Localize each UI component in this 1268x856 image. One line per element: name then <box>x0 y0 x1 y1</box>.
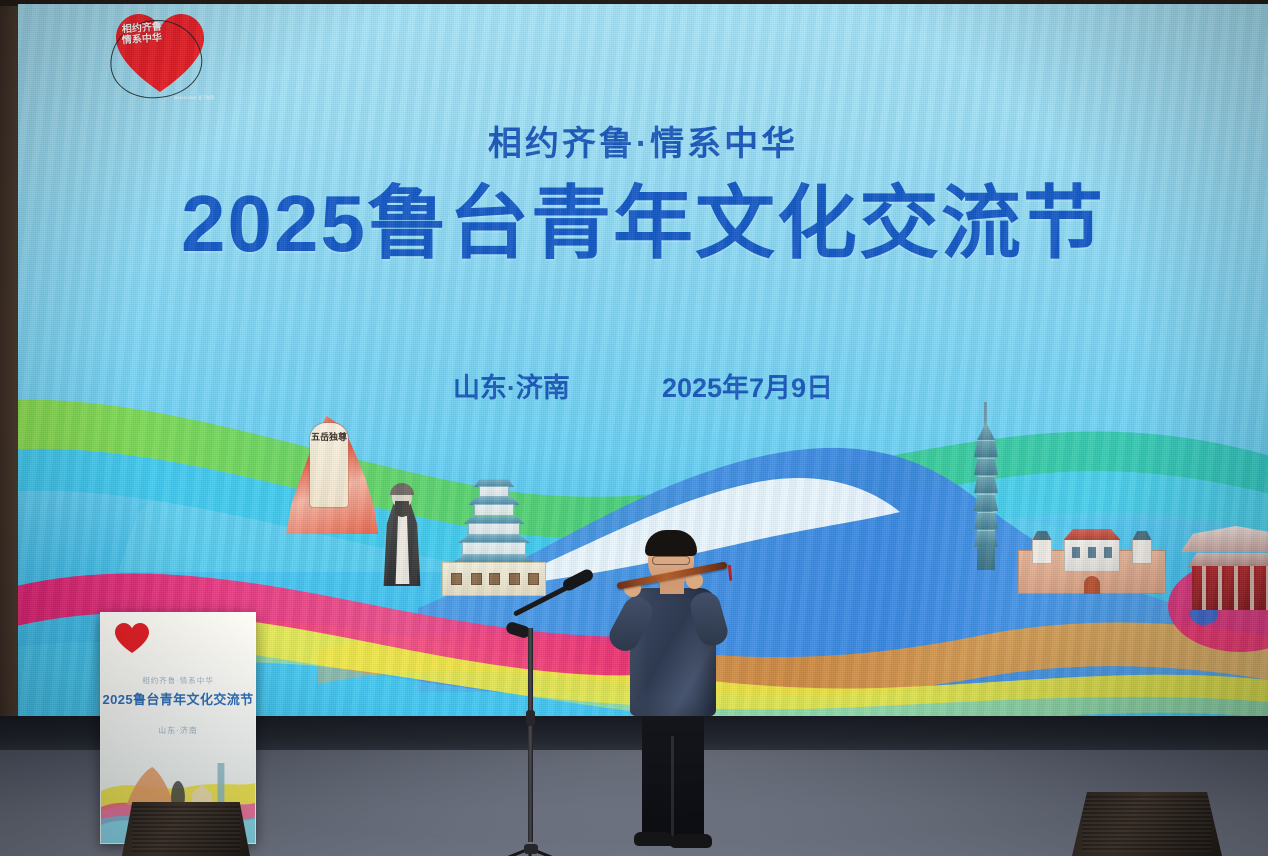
landmark-presidential-office-building <box>1018 524 1166 594</box>
event-location: 山东·济南 <box>453 366 570 405</box>
event-meta: 山东·济南 2025年7月9日 <box>18 366 1268 405</box>
banner-heart-logo <box>115 623 149 653</box>
logo-text: 相约齐鲁 情系中华 <box>122 24 200 82</box>
taipei101-segment <box>974 458 998 475</box>
gov-side-tower-right <box>1132 538 1152 564</box>
landmark-confucius-statue <box>376 482 428 590</box>
logo-line-2: 情系中华 <box>122 33 163 46</box>
pagoda-tier-1 <box>479 486 509 497</box>
pagoda-tier-2 <box>474 504 514 516</box>
taipei101-segment <box>974 512 998 529</box>
event-kicker: 相约齐鲁·情系中华 <box>18 116 1268 165</box>
event-heart-logo: 相约齐鲁 情系中华 SHANDONG 爱下台湾 <box>108 10 216 102</box>
gov-side-tower-left <box>1032 538 1052 564</box>
gov-side-roof-left <box>1030 531 1054 540</box>
confucius-beard <box>395 501 409 517</box>
boom-microphone-stand[interactable] <box>500 570 620 856</box>
gov-window <box>1104 547 1112 558</box>
performer-dizi-flute-player <box>608 528 736 848</box>
pagoda-window <box>489 573 500 585</box>
taipei101-base <box>977 546 995 570</box>
taipei101-segment <box>974 494 998 511</box>
mic-tripod-hub <box>524 844 538 854</box>
landmark-red-temple-gate <box>1180 526 1268 612</box>
temple-column <box>1250 566 1254 610</box>
gov-side-roof-right <box>1130 531 1154 540</box>
pagoda-window <box>471 573 482 585</box>
gov-window <box>1072 547 1080 558</box>
landmark-mount-tai-stele: 五岳独尊 <box>286 409 378 534</box>
mic-height-collar <box>526 710 535 726</box>
gov-main-door <box>1084 576 1100 594</box>
taipei101-segment <box>974 440 998 457</box>
heart-icon <box>115 623 149 653</box>
stage-event-photo: 五岳独尊 <box>0 0 1268 856</box>
pagoda-tier-4 <box>462 542 526 555</box>
gov-window <box>1088 547 1096 558</box>
banner-location: 山东·济南 <box>101 725 255 736</box>
stage-monitor-left <box>122 802 250 856</box>
landmark-taipei-101-tower <box>968 402 1004 570</box>
pagoda-tier-3 <box>468 523 520 535</box>
flute-tassel <box>728 565 732 581</box>
performer-trousers <box>642 710 704 838</box>
stele-inscription: 五岳独尊 <box>310 432 348 444</box>
gov-center-roof <box>1058 529 1126 540</box>
taipei101-segment <box>974 476 998 493</box>
banner-headline: 2025鲁台青年文化交流节 <box>101 689 255 708</box>
temple-column <box>1234 566 1238 610</box>
taipei101-segment <box>974 530 998 547</box>
banner-kicker: 相约齐鲁·情系中华 <box>101 675 255 686</box>
performer-left-shoe <box>634 832 674 846</box>
event-date: 2025年7月9日 <box>662 366 833 405</box>
pagoda-window <box>451 573 462 585</box>
performer-hair <box>645 530 697 556</box>
mic-pole <box>528 628 533 842</box>
taipei101-cap <box>977 422 995 440</box>
stage-monitor-right <box>1072 792 1222 856</box>
performer-glasses <box>652 556 690 565</box>
microphone-icon <box>561 567 595 592</box>
temple-column <box>1218 566 1222 610</box>
confucius-hair <box>390 483 414 495</box>
performer-right-shoe <box>670 834 712 848</box>
taipei101-spire <box>984 402 987 426</box>
event-headline: 2025鲁台青年文化交流节 <box>18 184 1268 264</box>
logo-latin-text: SHANDONG 爱下台湾 <box>174 96 214 100</box>
temple-upper-roof <box>1176 526 1268 552</box>
stele-slab: 五岳独尊 <box>310 423 348 507</box>
temple-column <box>1202 566 1206 610</box>
